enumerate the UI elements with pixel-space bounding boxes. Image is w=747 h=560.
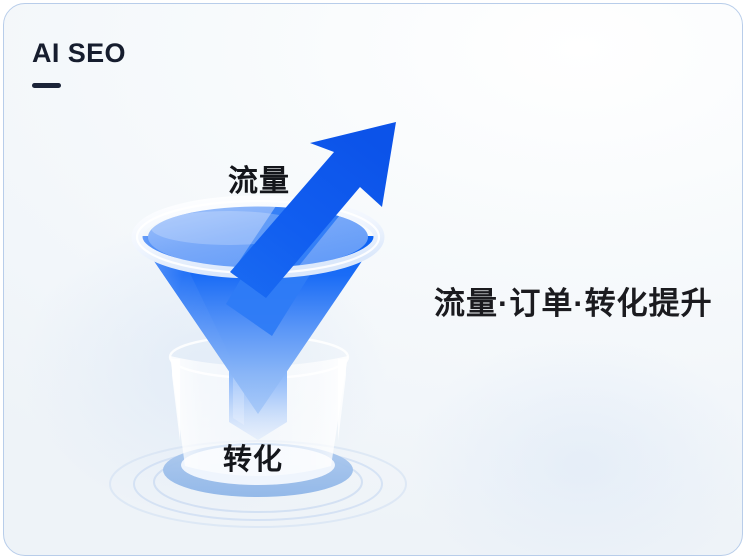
title-block: AI SEO: [32, 40, 126, 88]
funnel-rim-highlight: [137, 201, 379, 273]
title-underline-rule: [32, 83, 61, 88]
ripple-ring-outer: [110, 441, 406, 527]
glass-base-ring: [163, 443, 353, 497]
funnel-bowl-fill: [148, 206, 368, 268]
funnel-stem-body: [229, 334, 287, 440]
label-traffic: 流量: [228, 156, 290, 200]
page-title: AI SEO: [32, 40, 126, 67]
glass-rim: [170, 336, 348, 378]
funnel-rim-ring: [137, 201, 379, 273]
funnel-bowl-gloss: [151, 211, 307, 245]
funnel-cone-sheen: [137, 236, 254, 406]
funnel-rim: [137, 201, 379, 273]
glass-container: [163, 336, 353, 497]
ripple-ring-inner: [154, 452, 362, 512]
card-frame: AI SEO 流量·订单·转化提升: [3, 3, 743, 556]
funnel-bowl: [148, 200, 368, 282]
label-conversion: 转化: [223, 436, 283, 478]
glass-cup-body: [170, 356, 348, 476]
growth-arrow-icon: [230, 122, 396, 298]
glass-highlight-left: [172, 356, 180, 476]
headline-text: 流量·订单·转化提升: [434, 278, 713, 323]
ripple-rings: [110, 441, 406, 527]
funnel-cone-body: [137, 236, 379, 414]
funnel-stem: [229, 334, 287, 440]
funnel-stem-highlight: [233, 336, 244, 425]
background-sheen-right: [342, 285, 743, 556]
background-sheen-left: [3, 154, 464, 556]
growth-arrow-shape: [230, 122, 396, 298]
funnel-cone: [137, 236, 379, 414]
arrow-shaft-inside-funnel: [226, 236, 334, 336]
ripple-ring-mid: [134, 448, 382, 520]
glass-base-inner: [181, 445, 335, 485]
arrow-tail-over-bowl: [232, 200, 352, 282]
screenshot-root: AI SEO 流量·订单·转化提升: [0, 0, 747, 560]
glass-highlight-right: [338, 356, 346, 476]
